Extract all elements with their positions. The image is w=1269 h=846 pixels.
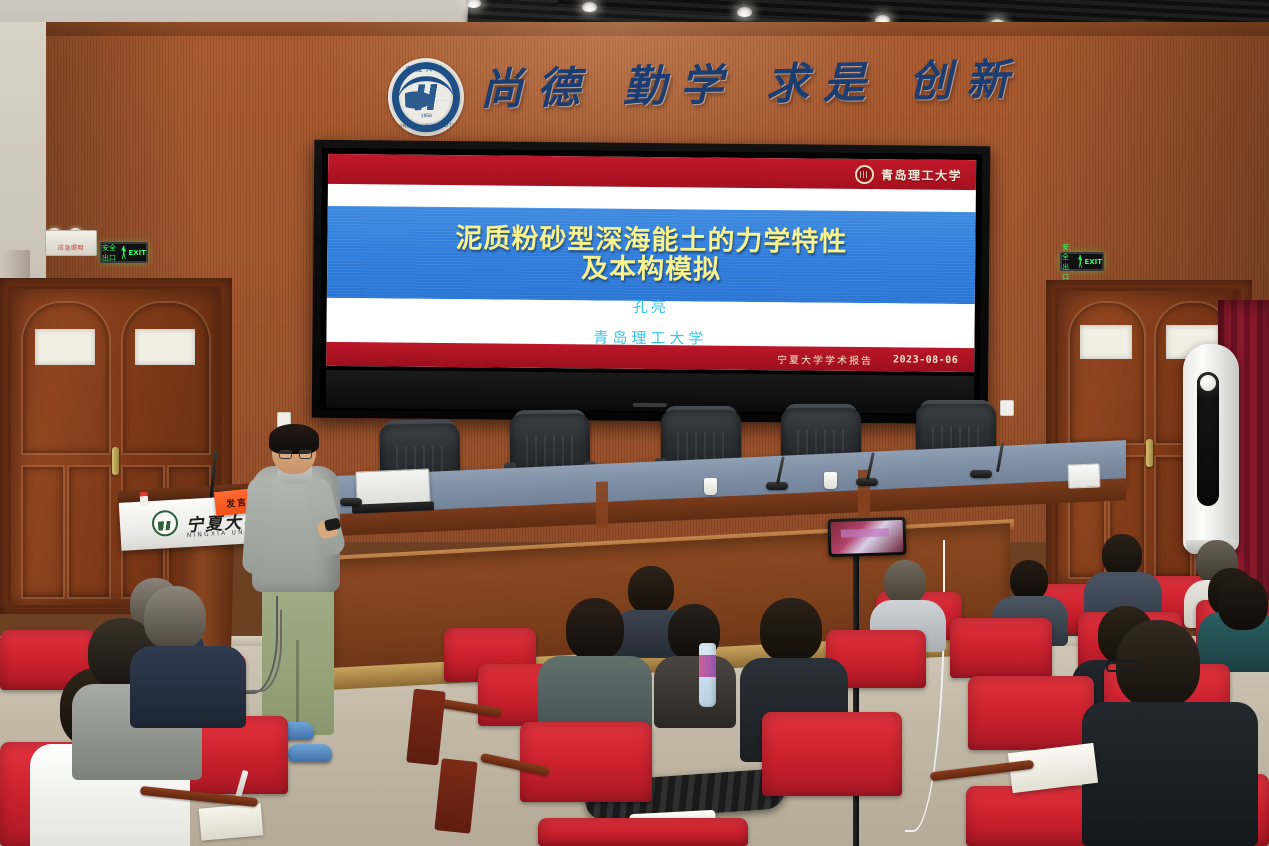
slide-title-line2: 及本构模拟 xyxy=(455,253,847,286)
tissue-box-icon xyxy=(1068,463,1101,488)
door-window xyxy=(1080,325,1132,359)
slide-title: 泥质粉砂型深海能土的力学特性 及本构模拟 xyxy=(455,224,848,286)
audience-body xyxy=(1082,702,1258,846)
audience-head xyxy=(566,598,624,660)
slide: 青岛理工大学 泥质粉砂型深海能土的力学特性 及本构模拟 孔亮 青岛理工大学 宁夏… xyxy=(326,154,976,372)
audience-head xyxy=(1102,534,1142,576)
exit-label-en: EXIT xyxy=(1084,258,1102,266)
audience-body xyxy=(654,656,736,728)
audience-body xyxy=(130,646,246,728)
notebook-icon xyxy=(199,803,264,840)
seat[interactable] xyxy=(762,712,902,796)
audience-head xyxy=(628,566,674,614)
exit-sign-left: 安全出口 EXIT xyxy=(100,242,148,263)
running-man-exit-icon xyxy=(1078,255,1082,268)
seat[interactable] xyxy=(538,818,748,846)
seat[interactable] xyxy=(520,722,652,802)
cup-icon xyxy=(704,478,717,495)
seal-name-en: NINGXIA UNIVERSITY xyxy=(388,122,464,129)
ac-vent-icon xyxy=(1197,372,1219,506)
qut-seal-icon xyxy=(855,164,874,183)
lecture-hall-photo: 宁夏大学 1958 NINGXIA UNIVERSITY 尚德 勤学 求是 创新… xyxy=(0,0,1269,846)
emergency-light-label: 应急照明 xyxy=(46,243,96,252)
seal-year: 1958 xyxy=(388,112,464,119)
seat[interactable] xyxy=(968,676,1094,750)
emergency-light-icon: 应急照明 xyxy=(45,230,97,256)
seal-name-cn: 宁夏大学 xyxy=(387,63,463,74)
audience-head xyxy=(144,586,206,650)
slide-author: 孔亮 xyxy=(633,296,669,317)
ceiling-spotlight xyxy=(582,2,597,12)
motto-text: 尚德 勤学 求是 创新 xyxy=(479,47,920,117)
presenter-shoe-right xyxy=(288,744,332,762)
bottle-label xyxy=(699,655,716,677)
tripod xyxy=(853,554,859,846)
door-handle-icon[interactable] xyxy=(1146,439,1153,467)
glasses-icon xyxy=(1106,660,1138,672)
exit-label-cn: 安全出口 xyxy=(102,243,119,263)
mic-base xyxy=(970,470,992,478)
door-window xyxy=(35,329,95,365)
door-handle-icon[interactable] xyxy=(112,447,119,475)
audience-head xyxy=(1010,560,1048,600)
table-seam xyxy=(596,481,608,528)
slide-footer-date: 2023-08-06 xyxy=(893,354,958,366)
exit-label-en: EXIT xyxy=(128,249,146,257)
water-bottle-icon xyxy=(140,492,149,506)
running-man-exit-icon xyxy=(121,246,126,259)
ningxia-mark-icon xyxy=(151,510,178,537)
slide-body: 孔亮 青岛理工大学 xyxy=(326,298,974,346)
seat-writing-tablet[interactable] xyxy=(434,758,477,833)
wall-socket xyxy=(1000,400,1014,416)
presentation-display[interactable]: 青岛理工大学 泥质粉砂型深海能土的力学特性 及本构模拟 孔亮 青岛理工大学 宁夏… xyxy=(312,140,991,424)
slide-header: 青岛理工大学 xyxy=(328,154,976,190)
slide-footer-event: 宁夏大学学术报告 xyxy=(777,351,873,367)
exit-sign-right: 安全出口 EXIT xyxy=(1060,252,1104,271)
seat[interactable] xyxy=(950,618,1052,678)
exit-label-cn: 安全出口 xyxy=(1062,242,1076,282)
display-brand-mark xyxy=(633,403,667,407)
phone-screen xyxy=(831,520,904,554)
ceiling-spotlight xyxy=(466,0,481,8)
audience-head xyxy=(884,560,926,604)
door-window xyxy=(135,329,195,365)
audience-head xyxy=(1218,576,1268,630)
display-chin xyxy=(326,370,974,414)
slide-title-line1: 泥质粉砂型深海能土的力学特性 xyxy=(455,223,847,258)
mic-base xyxy=(340,498,362,506)
university-seal-icon: 宁夏大学 1958 NINGXIA UNIVERSITY xyxy=(387,57,464,136)
air-conditioner[interactable] xyxy=(1183,344,1239,552)
ceiling-spotlight xyxy=(737,7,752,17)
audience-head xyxy=(760,598,822,662)
slide-header-org: 青岛理工大学 xyxy=(881,166,962,184)
cup-icon xyxy=(824,472,837,489)
slide-title-band: 泥质粉砂型深海能土的力学特性 及本构模拟 xyxy=(327,206,976,304)
phone-camera-icon[interactable] xyxy=(827,517,906,557)
wall-motto: 宁夏大学 1958 NINGXIA UNIVERSITY 尚德 勤学 求是 创新 xyxy=(379,43,926,148)
presenter-glasses-icon xyxy=(279,450,312,459)
